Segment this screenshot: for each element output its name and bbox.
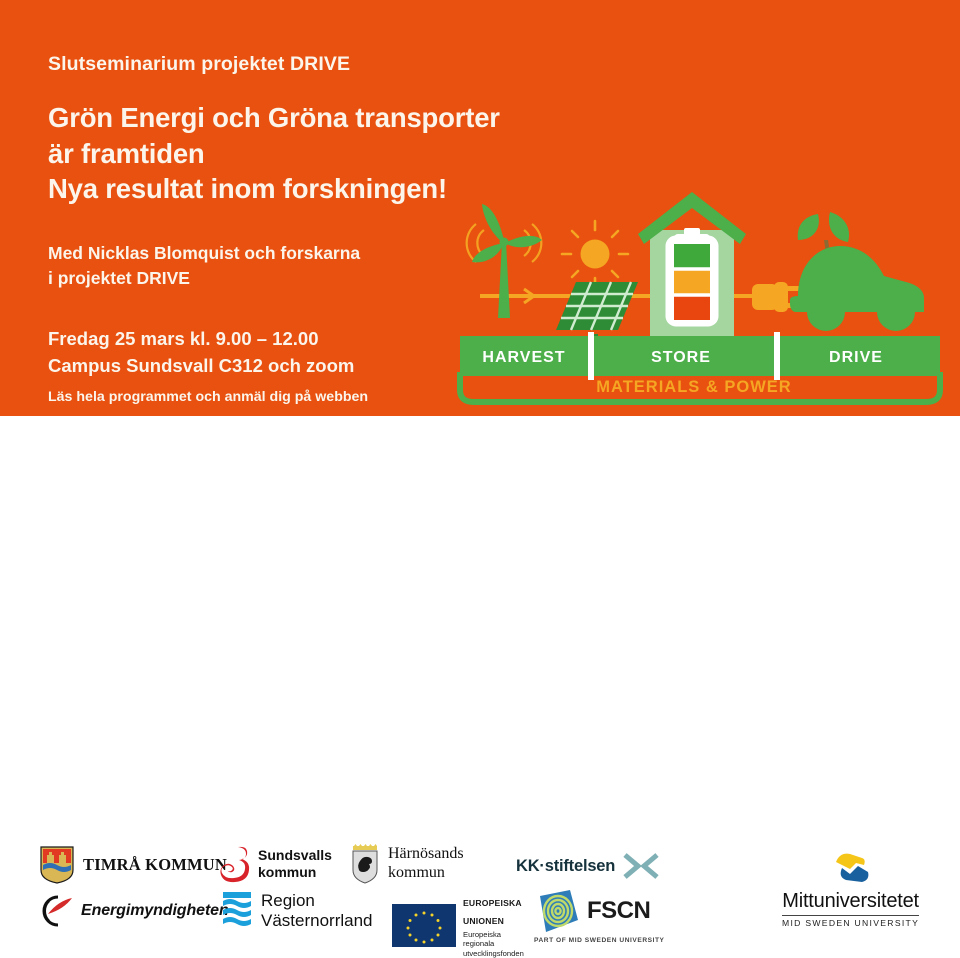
logo-timra-label: TIMRÅ KOMMUN: [83, 855, 227, 875]
logo-fscn-tagline: PART OF MID SWEDEN UNIVERSITY: [534, 937, 665, 944]
page-title: Grön Energi och Gröna transporter är fra…: [48, 100, 518, 206]
kicker-text: Slutseminarium projektet DRIVE: [48, 52, 518, 76]
logo-eu-wordmark: EUROPEISKA UNIONEN Europeiska regionala …: [463, 893, 524, 958]
logo-eu-line2: UNIONEN: [463, 916, 504, 926]
harnosand-coat-of-arms-icon: [350, 844, 380, 884]
subheading: Med Nicklas Blomquist och forskarna i pr…: [48, 241, 518, 291]
sun-icon: [562, 221, 628, 287]
logo-miun-label: Mittuniversitetet: [782, 890, 919, 913]
poster-root: Slutseminarium projektet DRIVE Grön Ener…: [0, 0, 960, 540]
logo-region-vasternorrland: Region Västernorrland: [222, 890, 373, 932]
battery-icon: [668, 228, 716, 324]
logo-timra-kommun: TIMRÅ KOMMUN: [40, 846, 227, 884]
logo-energimyndigheten-label: Energimyndigheten: [81, 902, 229, 920]
signup-note: Läs hela programmet och anmäl dig på web…: [48, 386, 518, 408]
energimyndigheten-mark-icon: [36, 894, 74, 928]
logo-kk-stiftelsen: KK·stiftelsen: [516, 852, 659, 880]
copy-block: Slutseminarium projektet DRIVE Grön Ener…: [48, 52, 518, 434]
logo-harnosand-line2: kommun: [388, 864, 464, 883]
logo-region-line2: Västernorrland: [261, 911, 373, 931]
logo-sundsvall-line1: Sundsvalls: [258, 847, 332, 864]
event-details: Fredag 25 mars kl. 9.00 – 12.00 Campus S…: [48, 326, 518, 379]
sponsor-logo-strip: TIMRÅ KOMMUN Sundsvalls kommun Härnösand…: [0, 416, 960, 540]
logo-harnosand-line1: Härnösands: [388, 845, 464, 864]
timra-coat-of-arms-icon: [40, 846, 74, 884]
wind-turbine-icon: [467, 204, 542, 318]
hero-panel: Slutseminarium projektet DRIVE Grön Ener…: [0, 0, 960, 416]
materials-power-label: MATERIALS & POWER: [596, 378, 791, 396]
electric-car-icon: [790, 212, 924, 331]
stage-label-harvest: HARVEST: [482, 349, 565, 366]
logo-energimyndigheten: Energimyndigheten: [36, 894, 229, 928]
logo-mittuniversitetet: Mittuniversitetet MID SWEDEN UNIVERSITY: [782, 850, 919, 928]
region-waves-icon: [222, 890, 252, 932]
logo-sundsvalls-kommun: Sundsvalls kommun: [218, 844, 332, 884]
logo-fscn: FSCN PART OF MID SWEDEN UNIVERSITY: [534, 888, 665, 944]
logo-eu-fund: Europeiska regionala utvecklingsfonden: [463, 930, 524, 958]
logo-sundsvall-line2: kommun: [258, 864, 332, 881]
logo-miun-tagline: MID SWEDEN UNIVERSITY: [782, 918, 919, 928]
harvest-store-drive-illustration: HARVEST STORE DRIVE MATERIALS & POWER: [452, 190, 948, 406]
logo-kk-label: KK·stiftelsen: [516, 857, 615, 876]
stage-label-store: STORE: [651, 349, 711, 366]
logo-harnosand-wordmark: Härnösands kommun: [388, 845, 464, 883]
eu-flag-icon: [392, 904, 456, 947]
logo-region-line1: Region: [261, 891, 373, 911]
logo-harnosands-kommun: Härnösands kommun: [350, 844, 464, 884]
logo-miun-divider: [782, 915, 919, 916]
logo-fscn-main: FSCN: [534, 888, 650, 934]
logo-sundsvall-wordmark: Sundsvalls kommun: [258, 847, 332, 880]
kk-chevrons-icon: [623, 852, 659, 880]
logo-eu-line1: EUROPEISKA: [463, 898, 522, 908]
logo-region-wordmark: Region Västernorrland: [261, 891, 373, 930]
logo-fscn-tagline-row: PART OF MID SWEDEN UNIVERSITY: [534, 937, 665, 944]
sundsvall-griffin-icon: [218, 844, 250, 884]
logo-fscn-label: FSCN: [587, 897, 650, 925]
logo-europeiska-unionen: EUROPEISKA UNIONEN Europeiska regionala …: [392, 893, 524, 958]
fscn-spiral-icon: [534, 888, 580, 934]
miun-mark-icon: [826, 850, 876, 886]
stage-label-drive: DRIVE: [829, 349, 883, 366]
